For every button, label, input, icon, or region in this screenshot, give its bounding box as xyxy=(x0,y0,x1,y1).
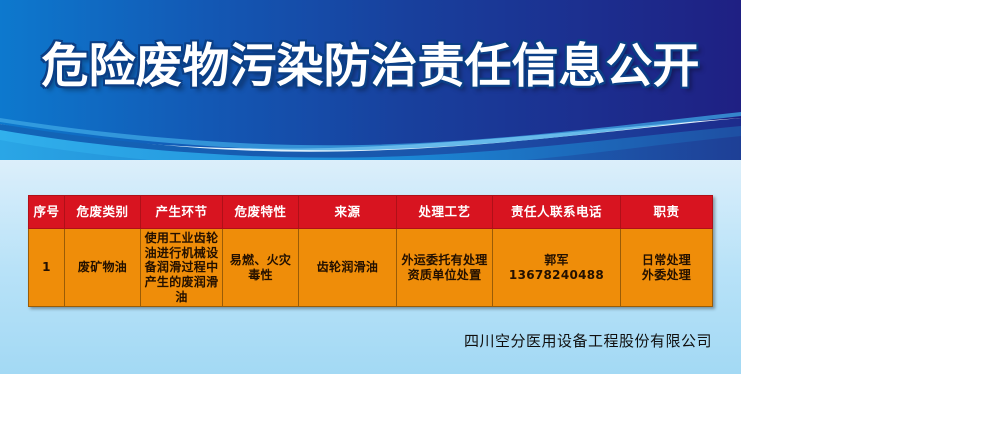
col-header-contact: 责任人联系电话 xyxy=(493,196,621,229)
col-header-source: 来源 xyxy=(299,196,397,229)
banner-header: 危险废物污染防治责任信息公开 xyxy=(0,0,741,160)
cell-contact: 郭军 13678240488 xyxy=(493,229,621,307)
poster-panel: 危险废物污染防治责任信息公开 序号 危废类别 产生环节 危废特性 来源 处理工艺… xyxy=(0,0,741,374)
hazardous-waste-table: 序号 危废类别 产生环节 危废特性 来源 处理工艺 责任人联系电话 职责 1 废… xyxy=(28,195,713,307)
table-header-row: 序号 危废类别 产生环节 危废特性 来源 处理工艺 责任人联系电话 职责 xyxy=(29,196,713,229)
contact-phone: 13678240488 xyxy=(495,268,618,283)
col-header-index: 序号 xyxy=(29,196,65,229)
col-header-duty: 职责 xyxy=(621,196,713,229)
table-row: 1 废矿物油 使用工业齿轮油进行机械设备润滑过程中产生的废润滑油 易燃、火灾毒性… xyxy=(29,229,713,307)
cell-stage: 使用工业齿轮油进行机械设备润滑过程中产生的废润滑油 xyxy=(141,229,223,307)
banner-graphic xyxy=(0,0,741,160)
contact-name: 郭军 xyxy=(495,253,618,268)
cell-property: 易燃、火灾毒性 xyxy=(223,229,299,307)
cell-source: 齿轮润滑油 xyxy=(299,229,397,307)
col-header-category: 危废类别 xyxy=(65,196,141,229)
col-header-treatment: 处理工艺 xyxy=(397,196,493,229)
cell-duty: 日常处理 外委处理 xyxy=(621,229,713,307)
cell-treatment: 外运委托有处理资质单位处置 xyxy=(397,229,493,307)
col-header-stage: 产生环节 xyxy=(141,196,223,229)
company-name: 四川空分医用设备工程股份有限公司 xyxy=(0,330,712,351)
col-header-property: 危废特性 xyxy=(223,196,299,229)
cell-category: 废矿物油 xyxy=(65,229,141,307)
duty-line-2: 外委处理 xyxy=(623,268,710,283)
cell-index: 1 xyxy=(29,229,65,307)
duty-line-1: 日常处理 xyxy=(623,253,710,268)
